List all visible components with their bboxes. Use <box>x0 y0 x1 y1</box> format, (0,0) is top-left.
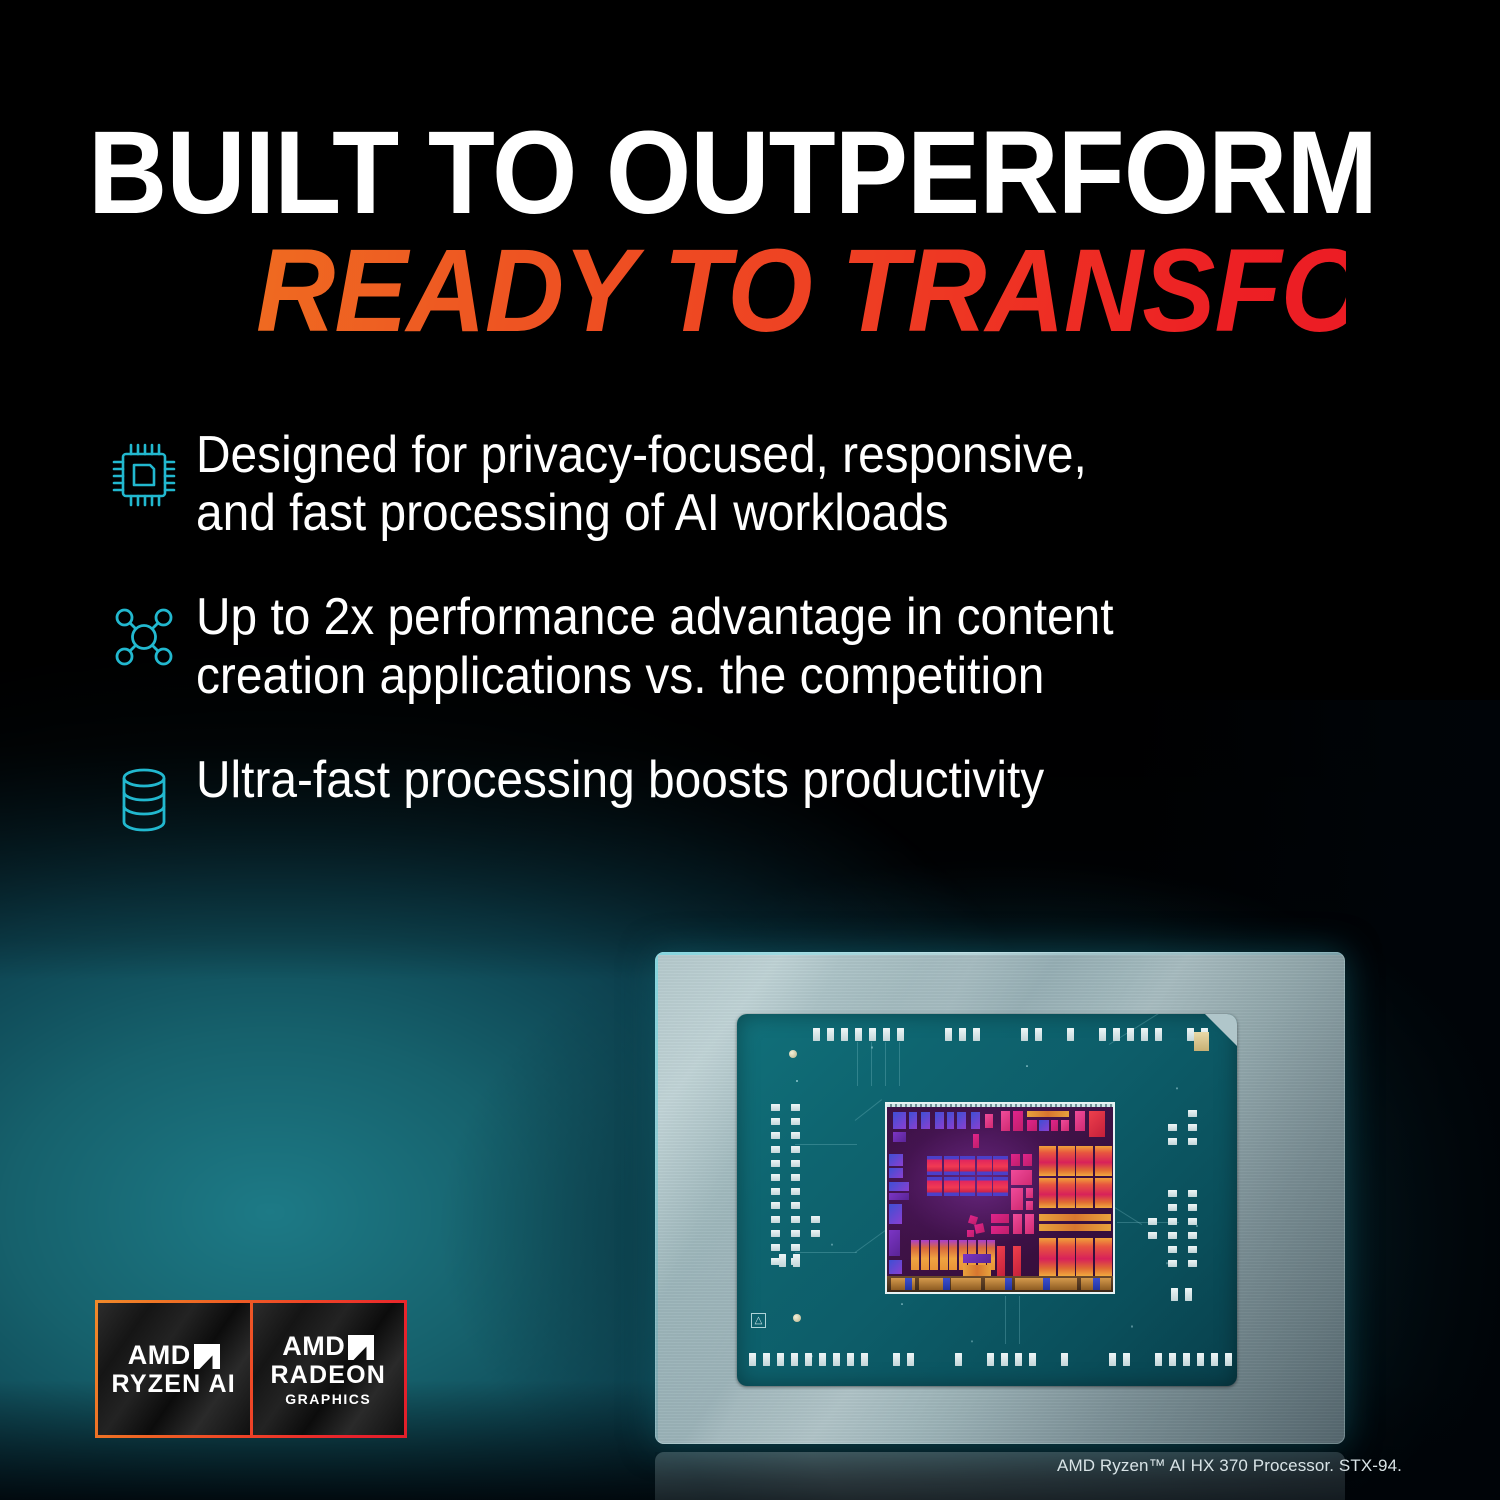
die-io-blue <box>905 1278 912 1290</box>
die-block <box>1011 1188 1023 1210</box>
die-block <box>1039 1120 1049 1131</box>
feature-text: Ultra-fast processing boosts productivit… <box>196 749 1044 809</box>
pcb-pad <box>1187 1028 1194 1041</box>
amd-logo-text: AMD <box>128 1342 191 1369</box>
pcb-pad <box>771 1230 780 1237</box>
pcb-pad <box>791 1118 800 1125</box>
die-block <box>889 1260 902 1274</box>
pcb-pad <box>861 1353 868 1366</box>
pcb-pad <box>883 1028 890 1041</box>
pcb-pad <box>955 1353 962 1366</box>
die-block <box>893 1112 906 1129</box>
pcb-pad <box>791 1202 800 1209</box>
product-footnote: AMD Ryzen™ AI HX 370 Processor. STX-94. <box>1057 1456 1402 1476</box>
pcb-pad <box>827 1028 834 1041</box>
pcb-pad <box>771 1104 780 1111</box>
pcb-pad <box>791 1216 800 1223</box>
pcb-pad <box>1067 1028 1074 1041</box>
die-block <box>1027 1111 1069 1117</box>
pcb-pad <box>1148 1218 1157 1225</box>
die-block <box>973 1134 979 1148</box>
die-cache-cell <box>930 1240 938 1270</box>
feature-item: Up to 2x performance advantage in conten… <box>92 586 1352 704</box>
pcb-pad <box>897 1028 904 1041</box>
pcb-trace <box>1019 1296 1020 1344</box>
pcb-smd-component <box>1194 1032 1209 1051</box>
die-gpu-block <box>1095 1146 1112 1176</box>
feature-text-line1: Designed for privacy-focused, responsive… <box>196 426 1087 484</box>
badge-ryzen-ai: AMD RYZEN AI <box>98 1303 250 1435</box>
pcb-pad <box>1188 1260 1197 1267</box>
die-block <box>909 1112 917 1129</box>
feature-text: Up to 2x performance advantage in conten… <box>196 586 1114 704</box>
die-block <box>1026 1188 1033 1198</box>
die-gpu-block <box>1058 1238 1075 1276</box>
pcb-pad <box>777 1353 784 1366</box>
die-gpu-block <box>1058 1146 1075 1176</box>
die-block <box>1061 1120 1069 1131</box>
pcb-pad <box>779 1254 786 1267</box>
amd-wordmark: AMD <box>282 1333 374 1360</box>
headline-secondary: READY TO TRANSFORM <box>256 235 1346 348</box>
die-top-io-strip <box>887 1104 1113 1107</box>
pcb-pad <box>1148 1232 1157 1239</box>
amd-arrow-icon <box>348 1335 374 1360</box>
die-block <box>1039 1224 1111 1231</box>
die-gpu-array-lower <box>1039 1238 1112 1276</box>
die-core <box>944 1156 959 1175</box>
pcb-pad <box>791 1132 800 1139</box>
die-gpu-block <box>1095 1238 1112 1276</box>
pcb-pad <box>763 1353 770 1366</box>
pcb-pad-col-right <box>1168 1124 1177 1152</box>
pcb-pad <box>1185 1288 1192 1301</box>
network-nodes-icon <box>92 586 196 684</box>
die-core <box>960 1177 975 1196</box>
die-block <box>889 1168 903 1178</box>
die-block <box>889 1204 902 1224</box>
pcb-pad-row-right <box>1171 1288 1199 1301</box>
amd-wordmark: AMD <box>128 1342 220 1369</box>
pcb-pad-row-bottom <box>749 1353 1237 1366</box>
die-block <box>1051 1120 1058 1131</box>
pcb-trace <box>795 1252 857 1253</box>
die-io-blue <box>1093 1278 1100 1290</box>
badge-product-subtitle: GRAPHICS <box>285 1392 371 1406</box>
feature-item: Designed for privacy-focused, responsive… <box>92 424 1352 542</box>
die-block <box>1026 1201 1033 1210</box>
pcb-pad <box>1188 1232 1197 1239</box>
die-gpu-block <box>1039 1238 1056 1276</box>
pcb-pad <box>771 1216 780 1223</box>
pcb-pad <box>1061 1353 1068 1366</box>
die-cache-cell <box>921 1240 929 1270</box>
pcb-pad <box>791 1244 800 1251</box>
die-block <box>1011 1170 1032 1185</box>
pcb-pad <box>805 1353 812 1366</box>
pcb-pad <box>1168 1218 1177 1225</box>
pcb-pad <box>791 1353 798 1366</box>
pcb-pad <box>1188 1110 1197 1117</box>
pcb-pad <box>1188 1218 1197 1225</box>
database-stack-icon <box>92 749 196 847</box>
die-block <box>997 1246 1005 1278</box>
pcb-pad <box>771 1188 780 1195</box>
pcb-pad <box>1123 1353 1130 1366</box>
die-io-blue <box>943 1278 950 1290</box>
pcb-pad <box>841 1028 848 1041</box>
pcb-pad <box>973 1028 980 1041</box>
pcb-pad-col-left <box>811 1216 820 1244</box>
die-io-blue <box>1043 1278 1050 1290</box>
die-block <box>935 1112 944 1129</box>
feature-text-line2: and fast processing of AI workloads <box>196 484 1087 542</box>
die-block <box>1011 1154 1020 1166</box>
pcb-pad <box>1099 1028 1106 1041</box>
pcb-pad-col-left <box>771 1104 780 1272</box>
pcb-pad <box>1171 1288 1178 1301</box>
pcb-pad <box>811 1230 820 1237</box>
pcb-trace <box>1005 1296 1006 1344</box>
pcb-pad <box>1015 1353 1022 1366</box>
die-io-cell <box>1049 1278 1077 1290</box>
die-gpu-block <box>1076 1146 1093 1176</box>
pcb-pad <box>1155 1028 1162 1041</box>
feature-text-line2: creation applications vs. the competitio… <box>196 647 1114 705</box>
die-block <box>971 1112 980 1129</box>
pcb-pad <box>1169 1353 1176 1366</box>
pcb-pad <box>1155 1353 1162 1366</box>
pcb-pad <box>1188 1190 1197 1197</box>
pcb-pad <box>847 1353 854 1366</box>
die-core <box>993 1177 1008 1196</box>
die-block <box>893 1132 906 1142</box>
die-block <box>1013 1246 1021 1278</box>
pcb-pad-col-left <box>791 1104 800 1272</box>
headline-primary: BUILT TO OUTPERFORM <box>88 118 1334 229</box>
chip-substrate: △ <box>655 952 1345 1444</box>
pcb-pad <box>793 1254 800 1267</box>
pcb-pad <box>791 1146 800 1153</box>
die-cache-cell <box>911 1240 919 1270</box>
die-block <box>889 1230 900 1256</box>
die-gpu-block <box>1076 1238 1093 1276</box>
die-block <box>991 1214 1009 1223</box>
die-block <box>1013 1111 1023 1131</box>
amd-brand-badges: AMD RYZEN AI AMD RADEON GRAPHICS <box>95 1300 407 1438</box>
cpu-chip-icon <box>92 424 196 522</box>
pcb-via-dot <box>789 1050 797 1058</box>
pcb-pad <box>771 1174 780 1181</box>
pcb-trace <box>885 1042 886 1086</box>
die-block <box>963 1254 991 1263</box>
die-block <box>957 1112 966 1129</box>
die-io-cell <box>1015 1278 1045 1290</box>
die-gpu-block <box>1076 1178 1093 1208</box>
pcb-trace <box>857 1042 858 1086</box>
pcb-pad <box>771 1202 780 1209</box>
pcb-trace <box>871 1042 872 1086</box>
pcb-pad <box>1021 1028 1028 1041</box>
pcb-pad-col-right <box>1188 1190 1197 1274</box>
die-core <box>927 1177 942 1196</box>
pcb-pad <box>1001 1353 1008 1366</box>
pcb-pad <box>1225 1353 1232 1366</box>
pcb-pad <box>1168 1190 1177 1197</box>
die-core <box>977 1177 992 1196</box>
die-gpu-block <box>1058 1178 1075 1208</box>
pcb-pad-col-right <box>1168 1190 1177 1274</box>
headline-block: BUILT TO OUTPERFORM READY TO TRANSFORM <box>88 118 1428 348</box>
die-block <box>1025 1214 1034 1234</box>
pcb-pad <box>1188 1204 1197 1211</box>
pcb-pad <box>987 1353 994 1366</box>
processor-package-image: △ <box>655 952 1345 1444</box>
pcb-pad <box>791 1104 800 1111</box>
die-gpu-block <box>1039 1146 1056 1176</box>
die-io-cell <box>951 1278 981 1290</box>
die-core <box>944 1177 959 1196</box>
die-block <box>889 1154 903 1166</box>
pcb-pad <box>791 1160 800 1167</box>
amd-arrow-icon <box>194 1344 220 1369</box>
die-cpu-core-cluster <box>927 1156 1008 1196</box>
badge-radeon-graphics: AMD RADEON GRAPHICS <box>253 1303 405 1435</box>
pcb-pad <box>1168 1246 1177 1253</box>
die-core <box>960 1156 975 1175</box>
pcb-pad <box>791 1230 800 1237</box>
die-cache-cell <box>940 1240 948 1270</box>
pcb-pad <box>1168 1124 1177 1131</box>
amd-ryzen-ai-promotional-poster: BUILT TO OUTPERFORM READY TO TRANSFORM <box>0 0 1500 1500</box>
die-block <box>889 1193 909 1200</box>
feature-item: Ultra-fast processing boosts productivit… <box>92 749 1352 847</box>
pcb-pad <box>819 1353 826 1366</box>
die-gpu-block <box>1039 1178 1056 1208</box>
pcb-orientation-mark: △ <box>751 1313 766 1328</box>
pcb-pad <box>771 1118 780 1125</box>
pcb-pad <box>1188 1138 1197 1145</box>
pcb-pad <box>869 1028 876 1041</box>
pcb-pad <box>791 1174 800 1181</box>
badge-product-name: RYZEN AI <box>112 1372 236 1397</box>
substrate-edge-highlight-left <box>655 952 658 1444</box>
die-block <box>1039 1214 1111 1221</box>
die-gpu-array-upper <box>1039 1146 1112 1208</box>
die-core <box>977 1156 992 1175</box>
die-block <box>967 1230 974 1237</box>
pcb-pad <box>771 1244 780 1251</box>
pcb-pad <box>1188 1124 1197 1131</box>
feature-text: Designed for privacy-focused, responsive… <box>196 424 1087 542</box>
pcb-pad <box>1113 1028 1120 1041</box>
pcb-pad <box>1183 1353 1190 1366</box>
pcb-pad <box>1211 1353 1218 1366</box>
pcb-pad <box>1035 1028 1042 1041</box>
pcb-pad-col-right <box>1188 1110 1197 1152</box>
pcb-pad <box>1188 1246 1197 1253</box>
die-io-blue <box>1005 1278 1012 1290</box>
pcb-pad <box>1197 1353 1204 1366</box>
pcb-pad <box>1029 1353 1036 1366</box>
pcb-pad <box>1168 1204 1177 1211</box>
pcb-pad <box>1168 1138 1177 1145</box>
die-block <box>974 1223 985 1234</box>
die-block <box>1089 1111 1105 1137</box>
die-block <box>1075 1111 1085 1131</box>
pcb-pad <box>893 1353 900 1366</box>
pcb-pad-col-right <box>1148 1218 1157 1246</box>
pcb-pad <box>1109 1353 1116 1366</box>
processor-die <box>885 1102 1115 1294</box>
die-block <box>889 1182 909 1191</box>
badge-product-name: RADEON <box>270 1363 386 1388</box>
chip-interposer-pcb: △ <box>737 1014 1237 1386</box>
pcb-pad <box>811 1216 820 1223</box>
die-bottom-io-strip <box>887 1276 1113 1292</box>
pcb-pad <box>749 1353 756 1366</box>
pcb-pad <box>1168 1232 1177 1239</box>
pcb-trace <box>899 1042 900 1086</box>
die-block <box>947 1112 954 1129</box>
pcb-trace <box>795 1144 857 1145</box>
pcb-pad <box>813 1028 820 1041</box>
die-block <box>1023 1154 1032 1166</box>
die-core <box>993 1156 1008 1175</box>
pcb-via-dot <box>793 1314 801 1322</box>
feature-text-line1: Up to 2x performance advantage in conten… <box>196 588 1114 646</box>
pcb-pad <box>1141 1028 1148 1041</box>
die-gpu-block <box>1095 1178 1112 1208</box>
die-block <box>1001 1111 1010 1131</box>
pcb-pad <box>833 1353 840 1366</box>
pcb-pad-row-top <box>813 1028 1215 1041</box>
die-core <box>927 1156 942 1175</box>
die-block <box>991 1226 1009 1234</box>
pcb-pad <box>855 1028 862 1041</box>
pcb-pad <box>771 1146 780 1153</box>
pcb-pad <box>907 1353 914 1366</box>
die-block <box>1027 1120 1037 1131</box>
die-cache-cell <box>949 1240 957 1270</box>
feature-text-line1: Ultra-fast processing boosts productivit… <box>196 751 1044 809</box>
pcb-pad <box>945 1028 952 1041</box>
pcb-pad <box>771 1160 780 1167</box>
substrate-edge-highlight-top <box>655 952 1345 955</box>
die-block <box>985 1114 993 1128</box>
die-block <box>921 1112 930 1129</box>
pcb-pad <box>771 1132 780 1139</box>
pcb-pad <box>959 1028 966 1041</box>
amd-logo-text: AMD <box>282 1333 345 1360</box>
die-block <box>1013 1214 1022 1234</box>
pcb-pad <box>791 1188 800 1195</box>
pcb-pad <box>1168 1260 1177 1267</box>
pcb-pad <box>1127 1028 1134 1041</box>
feature-list: Designed for privacy-focused, responsive… <box>92 424 1352 891</box>
pcb-pad-row-left-lower <box>779 1254 807 1267</box>
